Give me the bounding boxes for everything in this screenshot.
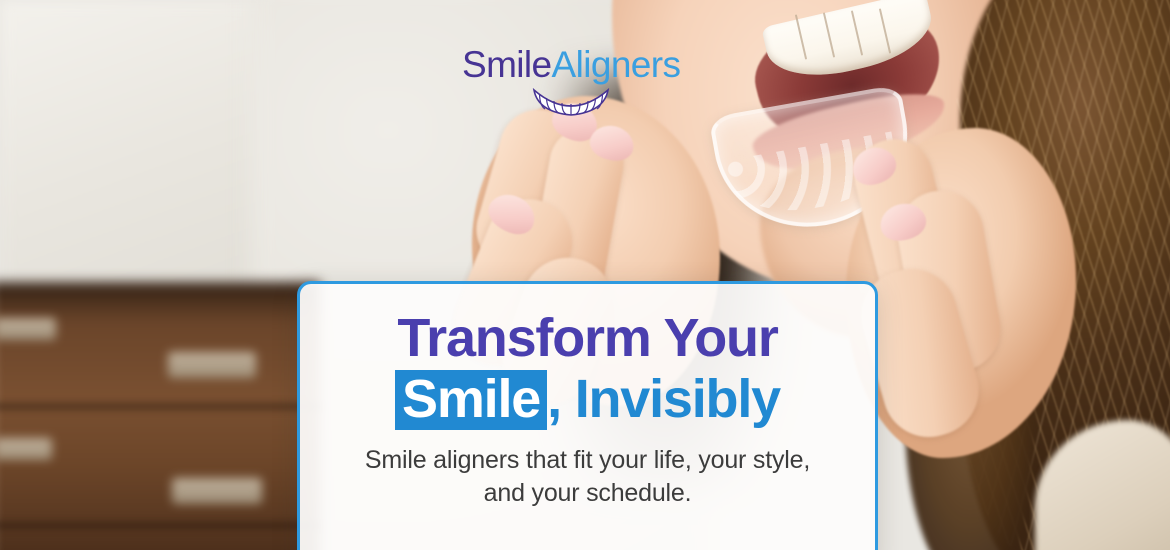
logo-wordmark: SmileAligners <box>462 46 680 83</box>
drawer-handle <box>172 478 262 504</box>
hero-subheadline: Smile aligners that fit your life, your … <box>348 444 828 510</box>
hero-content-card: Transform Your Smile, Invisibly Smile al… <box>297 281 878 550</box>
logo-word-smile: Smile <box>462 44 552 85</box>
brand-logo[interactable]: SmileAligners <box>462 46 680 116</box>
logo-word-aligners: Aligners <box>552 44 681 85</box>
headline-line-two-rest: , Invisibly <box>547 369 780 429</box>
drawer-handle <box>0 318 56 340</box>
page-title: Transform Your Smile, Invisibly <box>334 310 841 430</box>
drawer-handle <box>0 438 52 460</box>
headline-highlight-smile: Smile <box>395 370 547 430</box>
smiling-teeth-icon <box>532 86 610 116</box>
hero-banner: SmileAligners Transform Your Smile, Invi… <box>0 0 1170 550</box>
headline-line-two: Smile, Invisibly <box>334 370 841 430</box>
dresser-seam <box>0 404 320 409</box>
headline-line-one: Transform Your <box>334 310 841 366</box>
drawer-handle <box>168 352 256 378</box>
dresser-seam <box>0 523 320 528</box>
